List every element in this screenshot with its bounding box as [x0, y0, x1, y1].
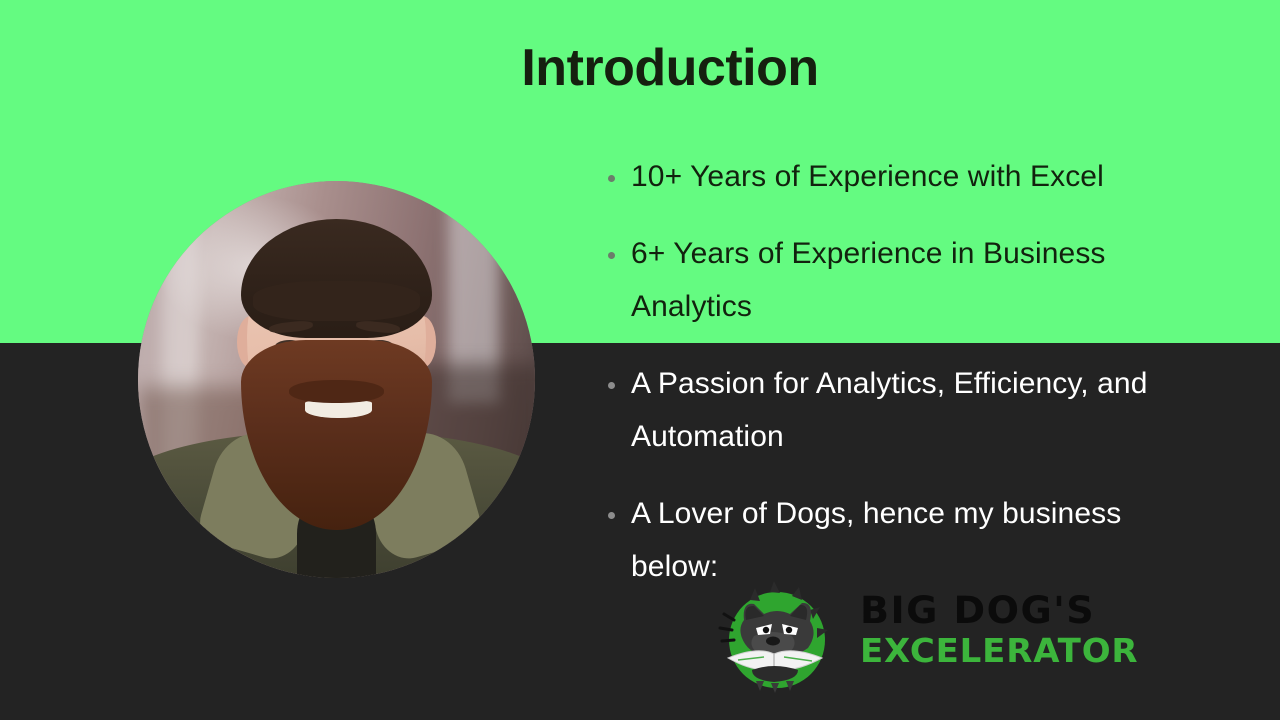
logo-wordmark: BIG DOG'S EXCELERATOR — [860, 590, 1094, 670]
bullet-dot-icon — [608, 175, 615, 182]
slide: Introduction — [0, 0, 1280, 720]
bullet-text: A Passion for Analytics, Efficiency, and… — [631, 367, 1148, 453]
bullet-dot-icon — [608, 512, 615, 519]
dog-mascot-icon — [714, 578, 836, 700]
business-logo: BIG DOG'S EXCELERATOR — [714, 578, 1094, 700]
photo-mouth — [305, 401, 372, 418]
photo-background — [138, 181, 535, 578]
list-item: A Passion for Analytics, Efficiency, and… — [605, 357, 1205, 463]
bullet-text: A Lover of Dogs, hence my business below… — [631, 497, 1121, 583]
logo-line-primary: BIG DOG'S — [860, 590, 1101, 632]
presenter-photo — [138, 181, 535, 578]
bullet-dot-icon — [608, 252, 615, 259]
bullet-text: 10+ Years of Experience with Excel — [631, 160, 1104, 193]
photo-hair — [241, 219, 432, 338]
page-title: Introduction — [0, 40, 1280, 97]
bullet-list: 10+ Years of Experience with Excel 6+ Ye… — [605, 150, 1205, 617]
photo-moustache — [289, 380, 384, 404]
logo-line-secondary: EXCELERATOR — [860, 632, 1101, 670]
list-item: 10+ Years of Experience with Excel — [605, 150, 1205, 203]
bullet-dot-icon — [608, 382, 615, 389]
bullet-text: 6+ Years of Experience in Business Analy… — [631, 237, 1106, 323]
list-item: 6+ Years of Experience in Business Analy… — [605, 227, 1205, 333]
